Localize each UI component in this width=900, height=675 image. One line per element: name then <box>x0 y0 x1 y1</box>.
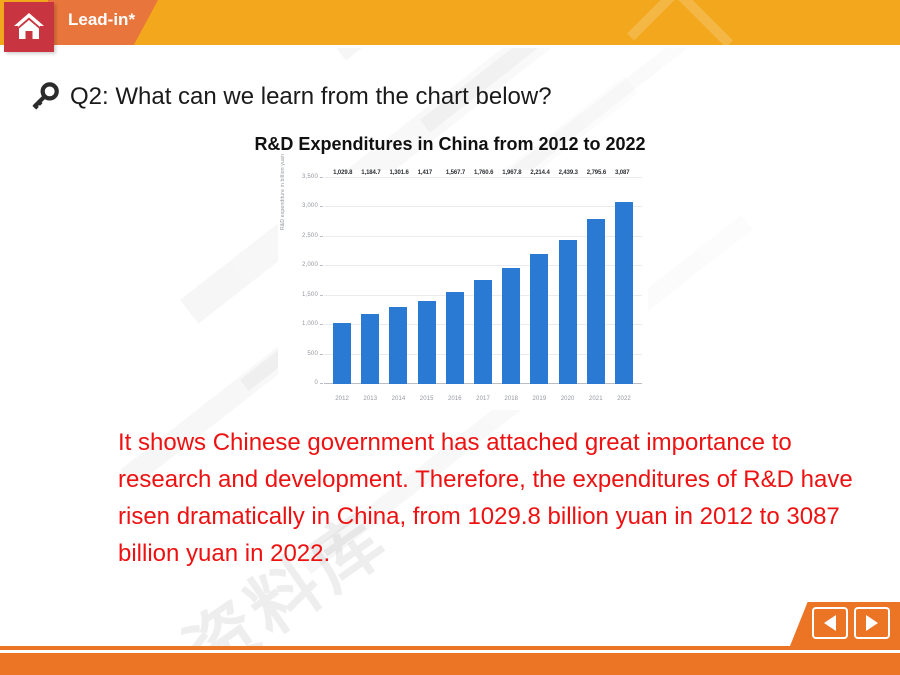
triangle-right-icon <box>866 615 878 631</box>
chart-x-tick-label: 2017 <box>469 396 497 402</box>
question-row: Q2: What can we learn from the chart bel… <box>30 82 552 112</box>
chart-x-tick-label: 2015 <box>413 396 441 402</box>
chart-bar-slot: 1,567.7 <box>441 178 469 384</box>
chart-x-tick-label: 2012 <box>328 396 356 402</box>
chart-bar-value-label: 1,417 <box>418 170 433 176</box>
chart-bar-slot: 1,760.6 <box>469 178 497 384</box>
chart-y-tick-label: 2,000 <box>302 262 318 268</box>
chart-bar[interactable]: 3,087 <box>615 202 633 384</box>
chart-plot-area: 05001,0001,5002,0002,5003,0003,500 1,029… <box>324 178 642 384</box>
chart-title: R&D Expenditures in China from 2012 to 2… <box>0 134 900 155</box>
chart-bar-slot: 1,301.6 <box>384 178 412 384</box>
home-button[interactable] <box>4 2 54 52</box>
chart-bar[interactable]: 1,417 <box>418 301 436 384</box>
chart-bar[interactable]: 1,760.6 <box>474 280 492 384</box>
chart-bar-slot: 1,417 <box>413 178 441 384</box>
chart-bar[interactable]: 1,567.7 <box>446 292 464 384</box>
chart-y-tick-label: 3,000 <box>302 203 318 209</box>
next-slide-button[interactable] <box>854 607 890 639</box>
chart-y-tick-label: 1,000 <box>302 321 318 327</box>
previous-slide-button[interactable] <box>812 607 848 639</box>
chart-x-axis-labels: 2012201320142015201620172018201920202021… <box>324 396 642 402</box>
chart-x-tick-label: 2013 <box>356 396 384 402</box>
chart-bar-slot: 2,214.4 <box>525 178 553 384</box>
chart-x-tick-label: 2020 <box>554 396 582 402</box>
home-icon <box>13 11 45 41</box>
tab-lead-in-label: Lead-in* <box>68 10 135 30</box>
header-bar: Lead-in* <box>0 0 900 45</box>
chart-x-tick-label: 2021 <box>582 396 610 402</box>
chart-bar[interactable]: 2,214.4 <box>530 254 548 384</box>
chart-bar-value-label: 1,301.6 <box>389 170 408 176</box>
chart-bars: 1,029.81,184.71,301.61,4171,567.71,760.6… <box>324 178 642 384</box>
slide-root: 资料库 Lead-in* Q2: What can we learn from … <box>0 0 900 675</box>
chart-bar-value-label: 2,439.3 <box>559 170 578 176</box>
chart-x-tick-label: 2022 <box>610 396 638 402</box>
question-text: Q2: What can we learn from the chart bel… <box>70 83 552 111</box>
chart-bar-value-label: 1,184.7 <box>361 170 380 176</box>
chart-bar-value-label: 2,795.6 <box>587 170 606 176</box>
chart-bar[interactable]: 2,795.6 <box>587 219 605 384</box>
chart-bar-slot: 2,439.3 <box>554 178 582 384</box>
chart-y-tick-label: 3,500 <box>302 174 318 180</box>
chart-y-tick-label: 500 <box>307 351 318 357</box>
chart-bar[interactable]: 1,029.8 <box>333 323 351 384</box>
answer-paragraph: It shows Chinese government has attached… <box>118 424 878 572</box>
footer-hairline <box>0 650 900 653</box>
chart-bar[interactable]: 1,967.8 <box>502 268 520 384</box>
chart-bar-value-label: 1,567.7 <box>446 170 465 176</box>
chart-x-tick-label: 2018 <box>497 396 525 402</box>
header-underline <box>0 45 900 48</box>
chart-bar-slot: 1,184.7 <box>356 178 384 384</box>
chart-bar-slot: 2,795.6 <box>582 178 610 384</box>
chart-bar-value-label: 1,029.8 <box>333 170 352 176</box>
chart-bar-value-label: 2,214.4 <box>530 170 549 176</box>
chart-figure: R&D expenditure in billion yuan 05001,00… <box>278 170 648 410</box>
chart-bar-value-label: 1,760.6 <box>474 170 493 176</box>
chart-y-tick-label: 1,500 <box>302 292 318 298</box>
chart-bar[interactable]: 1,184.7 <box>361 314 379 384</box>
chart-bar[interactable]: 2,439.3 <box>559 240 577 384</box>
chart-bar-value-label: 3,087 <box>615 170 630 176</box>
key-icon <box>30 82 60 112</box>
chart-x-tick-label: 2019 <box>525 396 553 402</box>
triangle-left-icon <box>824 615 836 631</box>
chart-y-tick-label: 2,500 <box>302 233 318 239</box>
chart-x-tick-label: 2014 <box>384 396 412 402</box>
chart-y-tick-label: 0 <box>314 380 318 386</box>
chart-y-axis-title: R&D expenditure in billion yuan <box>280 110 286 230</box>
chart-bar-slot: 3,087 <box>610 178 638 384</box>
nav-buttons <box>812 607 890 639</box>
chart-x-tick-label: 2016 <box>441 396 469 402</box>
chart-bar-value-label: 1,967.8 <box>502 170 521 176</box>
chart-bar-slot: 1,967.8 <box>497 178 525 384</box>
chart-bar-slot: 1,029.8 <box>328 178 356 384</box>
chart-bar[interactable]: 1,301.6 <box>389 307 407 384</box>
